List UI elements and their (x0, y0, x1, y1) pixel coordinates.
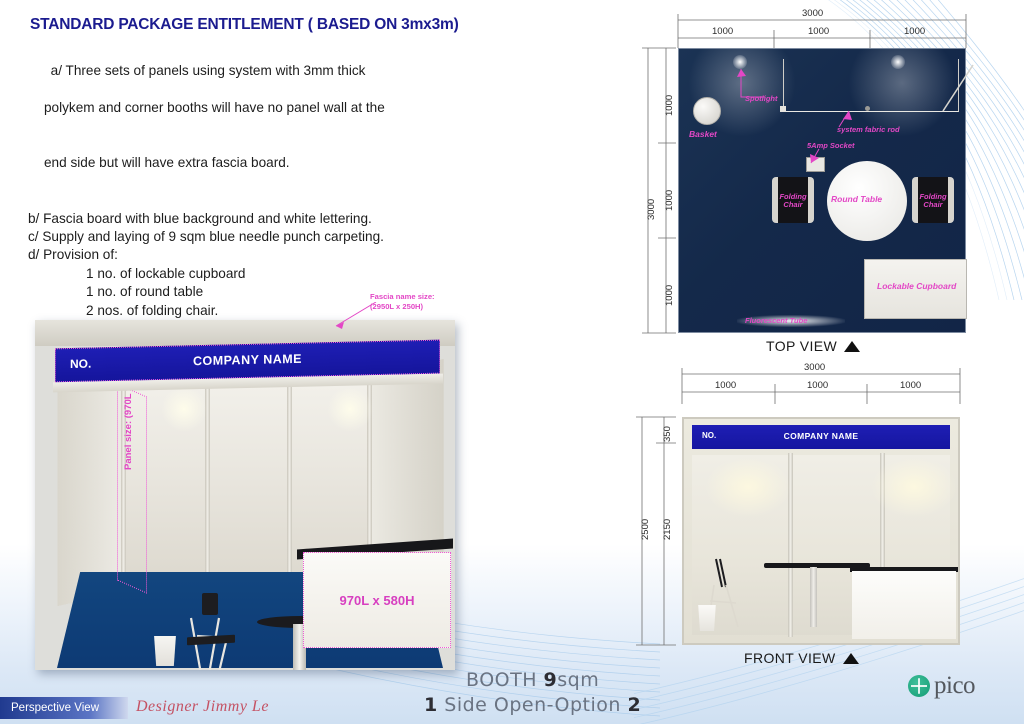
booth-wall-left (57, 361, 125, 606)
label-basket: Basket (689, 129, 717, 139)
label-fluorescent-tube: Fluorescent Tube (745, 316, 807, 325)
direction-arrow-icon (843, 653, 859, 664)
booth-area-line: BOOTH 9sqm (424, 668, 641, 693)
top-view-drawing: 3000 1000 1000 1000 3000 1000 1000 1000 (636, 8, 1016, 360)
waste-basket (152, 636, 178, 666)
front-view-drawing: 3000 1000 1000 1000 2500 350 2150 NO. CO… (626, 362, 1016, 682)
label-folding-chair-left: Folding Chair (778, 193, 808, 209)
label-lockable-cupboard: Lockable Cupboard (877, 281, 956, 291)
front-view-seg-width: 1000 (900, 380, 921, 391)
top-view-seg-width: 1000 (808, 26, 829, 37)
top-view-v-dimensions (636, 36, 682, 342)
front-view-caption: FRONT VIEW (744, 650, 859, 666)
top-view-seg-depth: 1000 (664, 190, 675, 211)
front-view-booth: NO. COMPANY NAME (682, 417, 960, 645)
top-view-caption: TOP VIEW (766, 338, 860, 354)
fascia-note-line2: (2950L x 250H) (370, 302, 435, 312)
folding-chair-back (202, 593, 218, 615)
top-view-seg-depth: 1000 (664, 95, 675, 116)
perspective-view-tab-label: Perspective View (0, 702, 99, 714)
booth-caption: BOOTH 9sqm 1 Side Open-Option 2 (424, 668, 641, 718)
brand-name: pico (934, 672, 975, 700)
front-view-v-dimensions (626, 406, 686, 654)
top-view-seg-depth: 1000 (664, 285, 675, 306)
front-view-total-height: 2500 (640, 519, 651, 540)
fascia-company-name: COMPANY NAME (56, 349, 439, 372)
front-view-total-width: 3000 (804, 362, 825, 373)
spec-item-c: c/ Supply and laying of 9 sqm blue needl… (28, 228, 468, 246)
direction-arrow-icon (844, 341, 860, 352)
label-round-table: Round Table (831, 194, 882, 204)
round-table-front-stem (810, 567, 817, 627)
top-view-plan: Spotlight system fabric rod Basket 5Amp … (678, 48, 966, 333)
front-view-seg-width: 1000 (807, 380, 828, 391)
label-folding-chair-right: Folding Chair (918, 193, 948, 209)
globe-icon (908, 675, 930, 697)
spotlight-glow (872, 457, 956, 517)
lockable-cupboard: 970L x 580H (303, 552, 451, 648)
lockable-cupboard-front (852, 571, 956, 639)
front-view-seg-width: 1000 (715, 380, 736, 391)
perspective-view-image: 970L x 580H Panel size: (970L x 2350H) N… (35, 320, 455, 670)
label-spotlight: Spotlight (745, 94, 778, 103)
page-title: STANDARD PACKAGE ENTITLEMENT ( BASED ON … (30, 16, 470, 34)
cupboard-size-label: 970L x 580H (304, 593, 450, 608)
provision-item: 1 no. of lockable cupboard (28, 265, 468, 283)
front-view-fascia-height: 350 (662, 426, 673, 442)
perspective-view-tab[interactable]: Perspective View (0, 697, 128, 719)
spec-item-b: b/ Fascia board with blue background and… (28, 210, 468, 228)
label-fabric-rod: system fabric rod (837, 125, 900, 134)
top-view-total-width: 3000 (802, 8, 823, 19)
fascia-size-note: Fascia name size: (2950L x 250H) (370, 292, 435, 311)
top-view-total-depth: 3000 (646, 199, 657, 220)
panel-note-line1: Panel size: (123, 421, 134, 470)
top-view-seg-width: 1000 (904, 26, 925, 37)
booth-post (287, 386, 292, 578)
spec-item-d: d/ Provision of: (28, 246, 468, 264)
spec-a-line2: polykem and corner booths will have no p… (28, 99, 468, 117)
front-view-panel-height: 2150 (662, 519, 673, 540)
fascia-note-line1: Fascia name size: (370, 292, 435, 302)
pico-logo: pico (908, 672, 975, 700)
top-view-seg-width: 1000 (712, 26, 733, 37)
fascia-leader-line (318, 302, 378, 330)
front-fascia-company-name: COMPANY NAME (692, 431, 950, 441)
designer-credit: Designer Jimmy Le (136, 698, 269, 716)
spotlight-glow (327, 386, 373, 432)
spec-a-line3: end side but will have extra fascia boar… (28, 154, 468, 172)
spec-item-a: a/ Three sets of panels using system wit… (28, 44, 468, 210)
spotlight-glow (161, 386, 207, 432)
front-view-fascia: NO. COMPANY NAME (692, 425, 950, 449)
booth-option-line: 1 Side Open-Option 2 (424, 693, 641, 718)
spec-a-line1: a/ Three sets of panels using system wit… (51, 63, 366, 78)
label-5amp-socket: 5Amp Socket (807, 141, 855, 150)
spotlight-glow (706, 457, 790, 517)
